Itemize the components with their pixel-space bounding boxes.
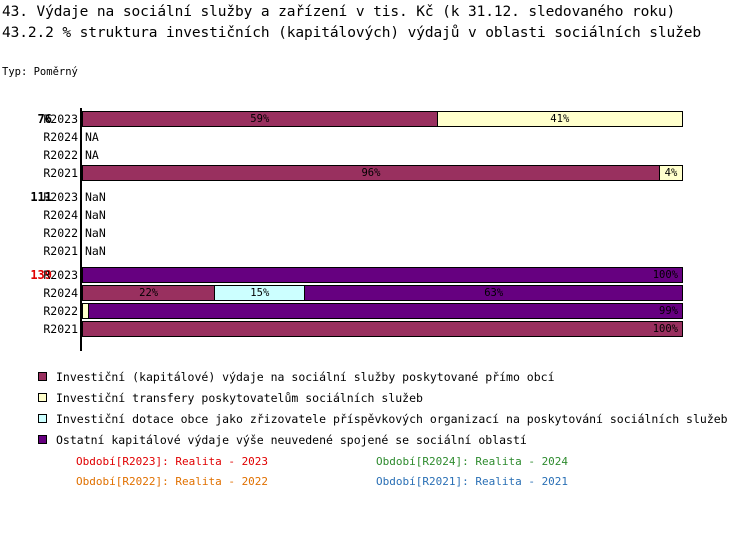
bar-track: 22%15%63% [82, 285, 683, 301]
bar-segment-value: 15% [215, 286, 304, 300]
stacked-bar[interactable]: 100% [82, 267, 683, 283]
stacked-bar[interactable]: 96%4% [82, 165, 683, 181]
row-period-label: R2023 [36, 266, 78, 284]
bar-group: 111R2023NaNR2024NaNR2022NaNR2021NaN [0, 188, 750, 260]
bar-segment-value: 99% [89, 304, 682, 318]
bar-segment-value: 59% [83, 112, 437, 126]
row-period-label: R2023 [36, 188, 78, 206]
bar-row: 111R2023NaN [0, 188, 750, 206]
bar-group: 139R2023100%R202422%15%63%R202299%R20211… [0, 266, 750, 338]
bar-track: 59%41% [82, 111, 683, 127]
legend-item[interactable]: Investiční transfery poskytovatelům soci… [38, 389, 738, 410]
bar-segment-value: 41% [438, 112, 682, 126]
missing-value-text: NaN [85, 242, 106, 260]
bar-segment[interactable]: 22% [82, 285, 214, 301]
bar-row: 139R2023100% [0, 266, 750, 284]
legend-item[interactable]: Ostatní kapitálové výdaje výše neuvedené… [38, 431, 738, 452]
row-period-label: R2022 [36, 146, 78, 164]
period-legend-item: Období[R2024]: Realita - 2024 [376, 454, 568, 470]
row-period-label: R2024 [36, 206, 78, 224]
missing-value-text: NA [85, 146, 99, 164]
bar-track: 96%4% [82, 165, 683, 181]
bar-row: R2021NaN [0, 242, 750, 260]
legend-item[interactable]: Investiční dotace obce jako zřizovatele … [38, 410, 738, 431]
bar-segment-value: 63% [305, 286, 682, 300]
row-period-label: R2024 [36, 284, 78, 302]
legend-color-swatch [38, 435, 47, 444]
legend-item-label: Ostatní kapitálové výdaje výše neuvedené… [56, 431, 527, 450]
page-title-line-2: 43.2.2 % struktura investičních (kapitál… [2, 23, 748, 44]
row-period-label: R2023 [36, 110, 78, 128]
stacked-bar[interactable]: 22%15%63% [82, 285, 683, 301]
bar-row: R202196%4% [0, 164, 750, 182]
period-legend-item: Období[R2022]: Realita - 2022 [76, 474, 268, 490]
page-title-line-1: 43. Výdaje na sociální služby a zařízení… [2, 2, 748, 23]
row-period-label: R2022 [36, 224, 78, 242]
bar-segment[interactable]: 100% [82, 321, 683, 337]
missing-value-text: NaN [85, 224, 106, 242]
bar-track: 100% [82, 321, 683, 337]
chart-plot-area: 76R202359%41%R2024NAR2022NAR202196%4%111… [0, 108, 750, 353]
bar-segment[interactable]: 96% [82, 165, 659, 181]
bar-row: R2024NaN [0, 206, 750, 224]
bar-segment[interactable]: 4% [659, 165, 683, 181]
legend-item-label: Investiční (kapitálové) výdaje na sociál… [56, 368, 555, 387]
legend-color-swatch [38, 372, 47, 381]
legend-item-label: Investiční transfery poskytovatelům soci… [56, 389, 423, 408]
legend-item[interactable]: Investiční (kapitálové) výdaje na sociál… [38, 368, 738, 389]
bar-segment-value: 100% [83, 322, 682, 336]
row-period-label: R2021 [36, 164, 78, 182]
bar-segment-value: 22% [83, 286, 214, 300]
bar-row: R2022NA [0, 146, 750, 164]
period-legend-item: Období[R2023]: Realita - 2023 [76, 454, 268, 470]
missing-value-text: NaN [85, 188, 106, 206]
row-period-label: R2021 [36, 242, 78, 260]
bar-row: R202422%15%63% [0, 284, 750, 302]
bar-segment[interactable]: 59% [82, 111, 437, 127]
stacked-bar[interactable]: 59%41% [82, 111, 683, 127]
bar-row: 76R202359%41% [0, 110, 750, 128]
period-legend-item: Období[R2021]: Realita - 2021 [376, 474, 568, 490]
missing-value-text: NaN [85, 206, 106, 224]
legend-item-label: Investiční dotace obce jako zřizovatele … [56, 410, 728, 429]
bar-track: 100% [82, 267, 683, 283]
bar-segment-value: 4% [660, 166, 682, 180]
bar-group: 76R202359%41%R2024NAR2022NAR202196%4% [0, 110, 750, 182]
bar-segment[interactable]: 15% [214, 285, 304, 301]
stacked-bar[interactable]: 99% [82, 303, 683, 319]
bar-track: 99% [82, 303, 683, 319]
bar-row: R202299% [0, 302, 750, 320]
bar-row: R2022NaN [0, 224, 750, 242]
row-period-label: R2021 [36, 320, 78, 338]
bar-segment[interactable]: 100% [82, 267, 683, 283]
bar-segment[interactable]: 99% [88, 303, 683, 319]
bar-row: R2024NA [0, 128, 750, 146]
chart-legend: Investiční (kapitálové) výdaje na sociál… [38, 368, 738, 452]
bar-segment-value: 96% [83, 166, 659, 180]
row-period-label: R2024 [36, 128, 78, 146]
bar-segment[interactable]: 63% [304, 285, 683, 301]
bar-segment-value: 100% [83, 268, 682, 282]
stacked-bar[interactable]: 100% [82, 321, 683, 337]
period-legend: Období[R2023]: Realita - 2023Období[R202… [0, 452, 750, 502]
bar-row: R2021100% [0, 320, 750, 338]
chart-type-label: Typ: Poměrný [2, 66, 78, 79]
row-period-label: R2022 [36, 302, 78, 320]
missing-value-text: NA [85, 128, 99, 146]
legend-color-swatch [38, 393, 47, 402]
legend-color-swatch [38, 414, 47, 423]
bar-segment[interactable]: 41% [437, 111, 683, 127]
chart-title-block: 43. Výdaje na sociální služby a zařízení… [2, 2, 748, 44]
